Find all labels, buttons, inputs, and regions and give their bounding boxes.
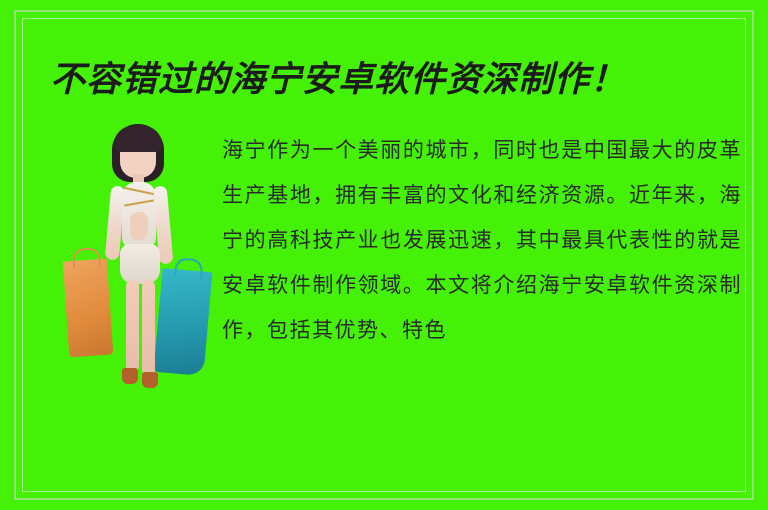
shopping-bag-teal-icon bbox=[154, 268, 213, 376]
poster-canvas: 不容错过的海宁安卓软件资深制作！ 海宁作为一个美丽的城市，同时也是中国最大的皮革… bbox=[0, 0, 768, 510]
skirt bbox=[120, 244, 160, 284]
hair-front bbox=[114, 126, 162, 152]
shoe-left bbox=[122, 368, 138, 384]
shopping-bag-orange-icon bbox=[63, 259, 114, 358]
woman-with-shopping-bags-illustration bbox=[62, 120, 212, 420]
page-title: 不容错过的海宁安卓软件资深制作！ bbox=[50, 58, 718, 102]
body-paragraph: 海宁作为一个美丽的城市，同时也是中国最大的皮革生产基地，拥有丰富的文化和经济资源… bbox=[222, 128, 742, 353]
torso-skin bbox=[130, 212, 148, 240]
leg-left bbox=[126, 280, 139, 372]
shoe-right bbox=[142, 372, 158, 388]
leg-right bbox=[142, 280, 155, 376]
